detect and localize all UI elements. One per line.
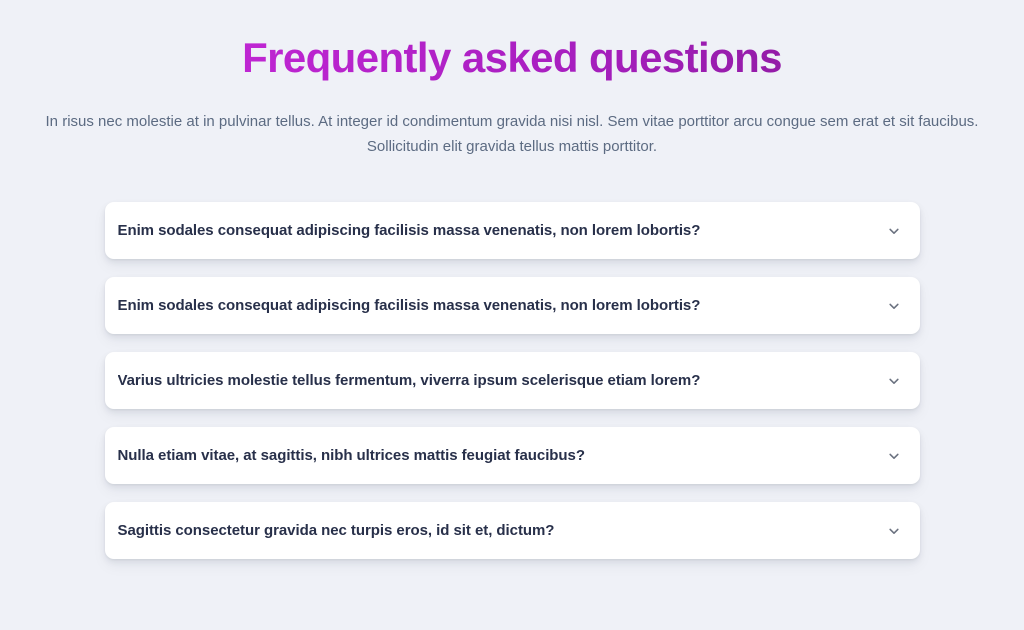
faq-accordion-item-1[interactable]: Enim sodales consequat adipiscing facili… <box>105 202 920 259</box>
faq-page: Frequently asked questions In risus nec … <box>0 0 1024 630</box>
faq-question-label: Varius ultricies molestie tellus ferment… <box>118 371 701 391</box>
faq-accordion-item-4[interactable]: Nulla etiam vitae, at sagittis, nibh ult… <box>105 427 920 484</box>
faq-header: Frequently asked questions In risus nec … <box>0 0 1024 159</box>
faq-question-label: Enim sodales consequat adipiscing facili… <box>118 296 701 316</box>
page-title: Frequently asked questions <box>0 33 1024 83</box>
chevron-down-icon[interactable] <box>886 448 902 464</box>
chevron-down-icon[interactable] <box>886 223 902 239</box>
faq-accordion-list: Enim sodales consequat adipiscing facili… <box>105 202 920 559</box>
faq-question-label: Nulla etiam vitae, at sagittis, nibh ult… <box>118 446 585 466</box>
faq-accordion-item-5[interactable]: Sagittis consectetur gravida nec turpis … <box>105 502 920 559</box>
faq-question-label: Enim sodales consequat adipiscing facili… <box>118 221 701 241</box>
faq-question-label: Sagittis consectetur gravida nec turpis … <box>118 521 555 541</box>
page-subtitle: In risus nec molestie at in pulvinar tel… <box>42 109 982 159</box>
chevron-down-icon[interactable] <box>886 373 902 389</box>
faq-accordion-item-3[interactable]: Varius ultricies molestie tellus ferment… <box>105 352 920 409</box>
chevron-down-icon[interactable] <box>886 298 902 314</box>
chevron-down-icon[interactable] <box>886 523 902 539</box>
faq-accordion-item-2[interactable]: Enim sodales consequat adipiscing facili… <box>105 277 920 334</box>
